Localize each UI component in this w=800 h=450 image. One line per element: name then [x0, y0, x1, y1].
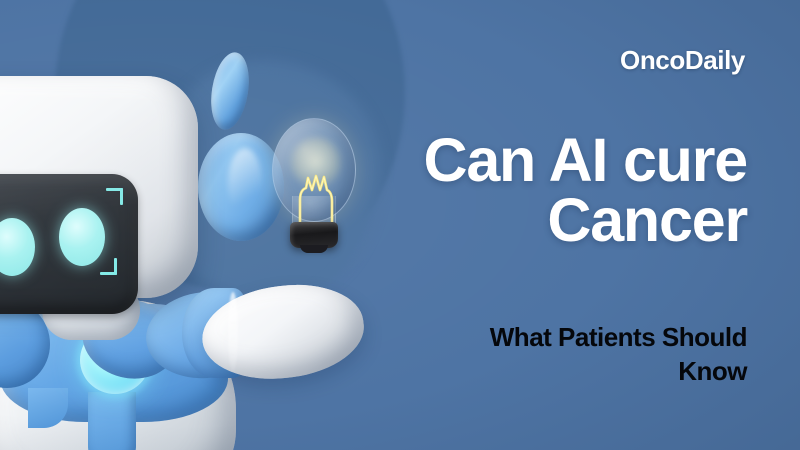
- headline: Can AI cure Cancer: [327, 131, 747, 251]
- subheadline: What Patients Should Know: [327, 320, 747, 389]
- headline-line-1: Can AI cure: [327, 131, 747, 191]
- headline-line-2: Cancer: [327, 191, 747, 251]
- subheadline-line-1: What Patients Should: [327, 320, 747, 354]
- promo-banner: OncoDaily Can AI cure Cancer What Patien…: [0, 0, 800, 450]
- subheadline-line-2: Know: [327, 354, 747, 388]
- brand-logo[interactable]: OncoDaily: [620, 45, 745, 76]
